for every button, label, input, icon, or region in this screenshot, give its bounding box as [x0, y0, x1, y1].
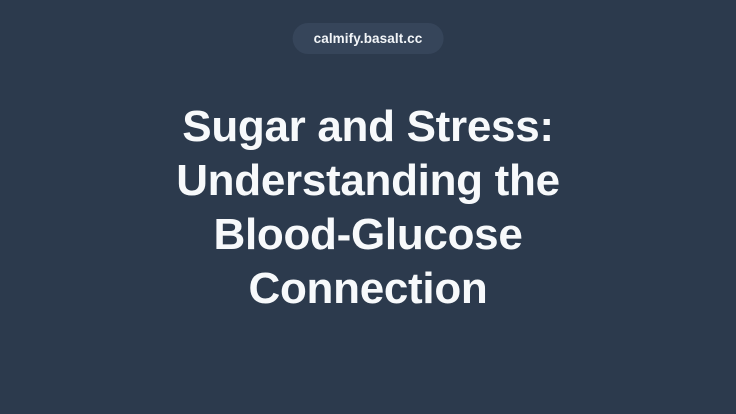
page-title-line-4: Connection: [40, 262, 696, 316]
page-title: Sugar and Stress: Understanding the Bloo…: [0, 100, 736, 316]
page-title-line-1: Sugar and Stress:: [40, 100, 696, 154]
page-title-line-2: Understanding the: [40, 154, 696, 208]
social-share-card: calmify.basalt.cc Sugar and Stress: Unde…: [0, 0, 736, 414]
domain-badge-label: calmify.basalt.cc: [314, 32, 423, 46]
domain-badge: calmify.basalt.cc: [293, 23, 444, 54]
page-title-line-3: Blood-Glucose: [40, 208, 696, 262]
